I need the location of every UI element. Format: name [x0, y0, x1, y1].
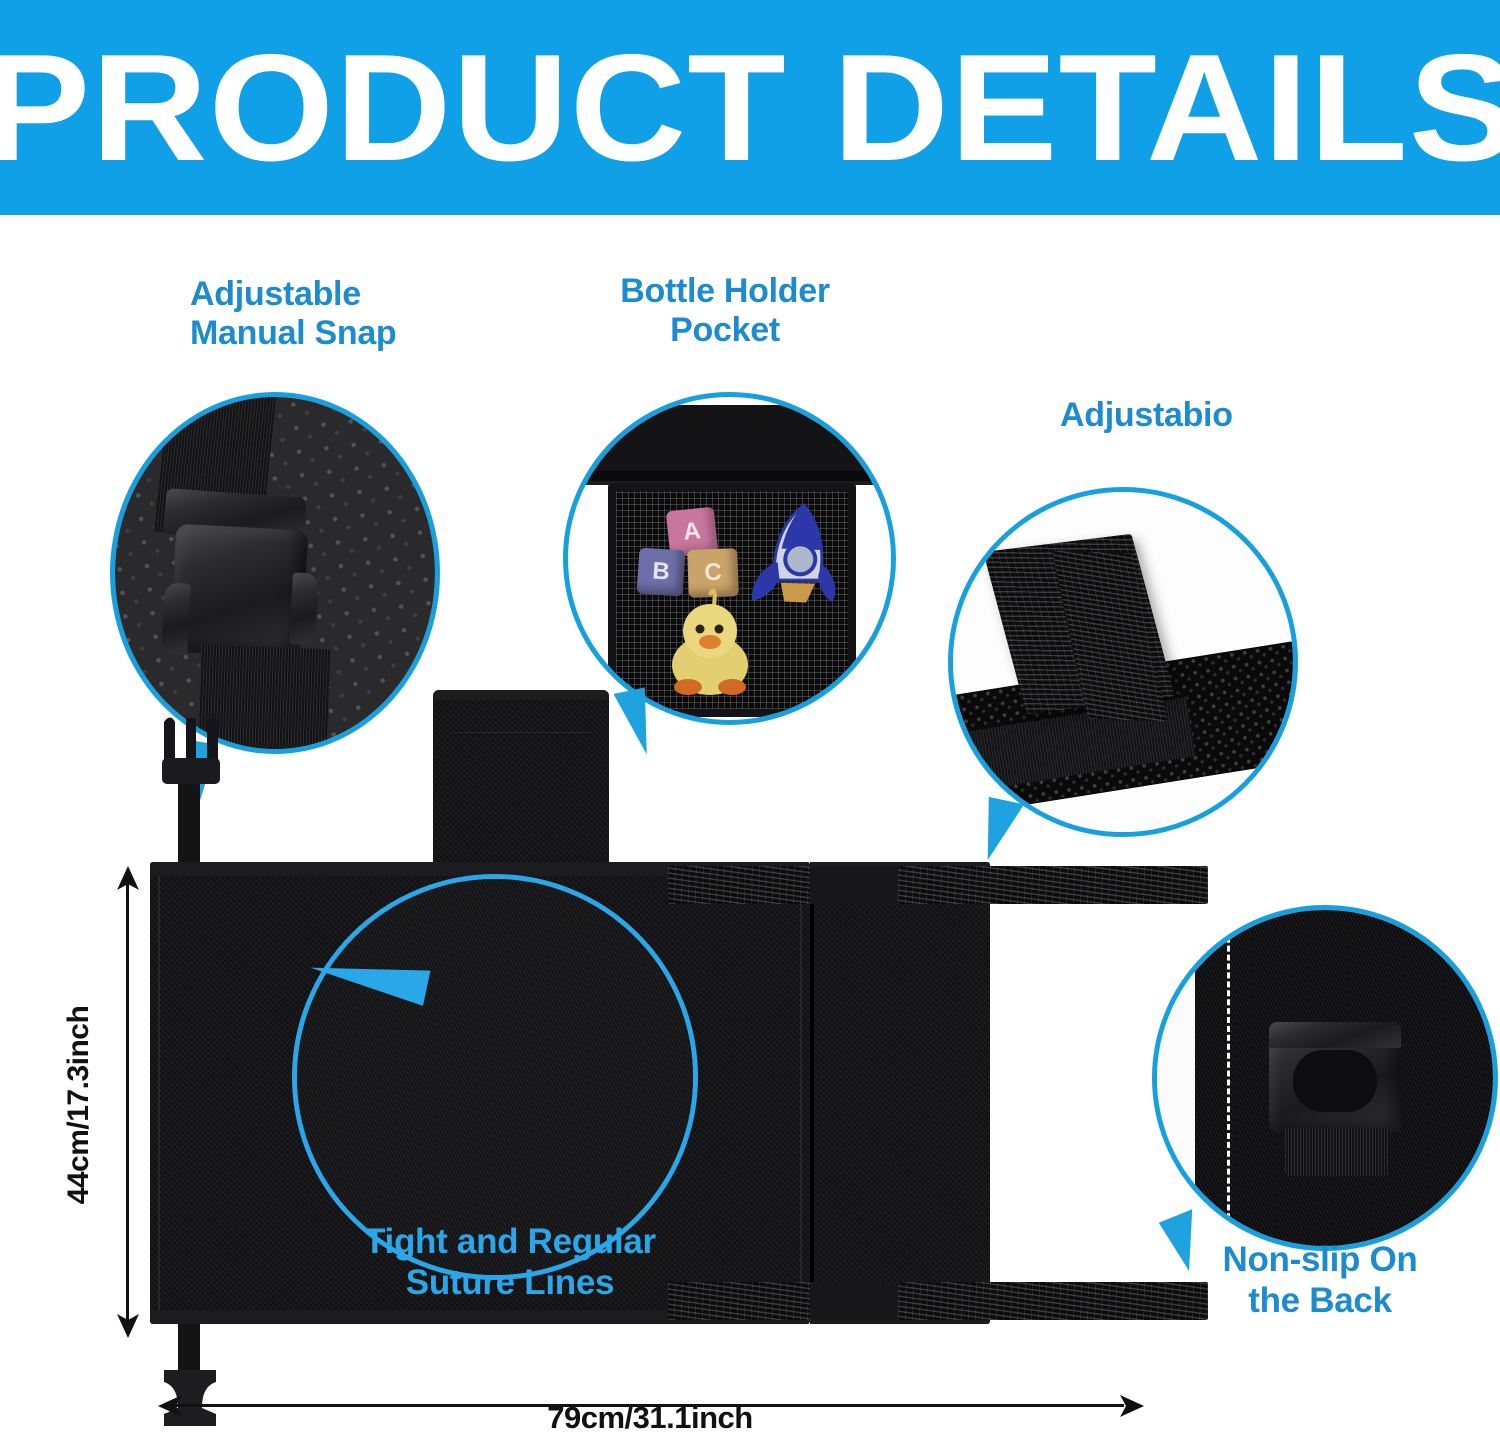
detail-circle-adjustabio: [948, 487, 1298, 837]
toy-duck-icon: [652, 587, 768, 703]
flap-top-hem: [433, 690, 609, 700]
dimension-label-height: 44cm/17.3inch: [62, 995, 96, 1215]
pocket-flap-seam: [568, 471, 891, 481]
infographic-canvas: PRODUCT DETAILS Adjustable Manual Snap B…: [0, 0, 1500, 1448]
dimension-arrow-right-icon: [1118, 1391, 1144, 1421]
buckle-wing-left: [161, 582, 191, 655]
flap-fabric-texture: [433, 690, 609, 870]
callout-label-bottle-holder-pocket: Bottle Holder Pocket: [570, 272, 880, 351]
velcro-strap-bottom: [668, 1282, 1208, 1320]
block-letter: B: [651, 557, 670, 585]
suture-fabric-texture: [297, 879, 693, 1275]
detail-photo-nonslip-buckle: [1157, 910, 1493, 1246]
buckle-wing-right: [289, 572, 319, 645]
dimension-arrow-up-icon: [113, 866, 143, 892]
callout-label-line2: Manual Snap: [190, 314, 490, 353]
product-panel-right-flap: [810, 862, 990, 1324]
panel-fold-seam: [810, 862, 814, 1324]
callout-label-line2: the Back: [1180, 1281, 1460, 1322]
right-flap-fabric-texture: [810, 862, 990, 1324]
buckle-waist-cut: [1293, 1050, 1377, 1112]
header-banner: PRODUCT DETAILS: [0, 0, 1500, 215]
callout-label-adjustabio: Adjustabio: [1060, 396, 1350, 435]
detail-photo-buckle: [115, 397, 435, 749]
velcro-strap-top: [668, 866, 1208, 904]
detail-circle-adjustable-manual-snap: [110, 392, 440, 754]
flap-stitch-line: [451, 732, 591, 733]
dimension-label-width: 79cm/31.1inch: [420, 1400, 880, 1436]
block-letter: A: [682, 517, 702, 546]
mesh-pocket: A B C: [608, 483, 856, 717]
buckle-top-lip: [1269, 1022, 1401, 1048]
callout-label-line1: Tight and Regular: [300, 1222, 720, 1263]
bottle-pocket-flap: [433, 690, 609, 870]
page-title: PRODUCT DETAILS: [0, 32, 1500, 184]
detail-photo-velcro: [953, 492, 1293, 832]
callout-label-line1: Bottle Holder: [570, 272, 880, 311]
velcro-strap-top-joint: [810, 866, 898, 904]
dimension-line-vertical: [126, 874, 129, 1326]
detail-photo-mesh-pocket: A B C: [568, 397, 891, 720]
callout-label-tight-and-regular-suture-lines: Tight and Regular Suture Lines: [300, 1222, 720, 1303]
detail-circle-bottle-holder-pocket: A B C: [563, 392, 896, 725]
dimension-arrow-down-icon: [113, 1312, 143, 1338]
callout-label-non-slip-on-the-back: Non-slip On the Back: [1180, 1240, 1460, 1321]
velcro-strap-bottom-joint: [810, 1282, 898, 1320]
buckle-webbing-tail: [1285, 1128, 1389, 1176]
callout-label-line1: Adjustable: [190, 275, 490, 314]
callout-label-adjustable-manual-snap: Adjustable Manual Snap: [190, 275, 490, 354]
buckle-body: [170, 524, 309, 659]
dimension-arrow-left-icon: [158, 1391, 184, 1421]
block-letter: C: [704, 559, 722, 587]
detail-circle-tight-and-regular-suture-lines: [292, 874, 698, 1280]
callout-label-line2: Pocket: [570, 311, 880, 350]
buckle-prongs-top-icon: [156, 716, 226, 792]
callout-label-line2: Suture Lines: [300, 1263, 720, 1304]
callout-label-line1: Non-slip On: [1180, 1240, 1460, 1281]
stitch-dashed-line: [1227, 910, 1230, 1246]
callout-label-line1: Adjustabio: [1060, 396, 1350, 435]
detail-circle-non-slip-on-the-back: [1152, 905, 1498, 1251]
